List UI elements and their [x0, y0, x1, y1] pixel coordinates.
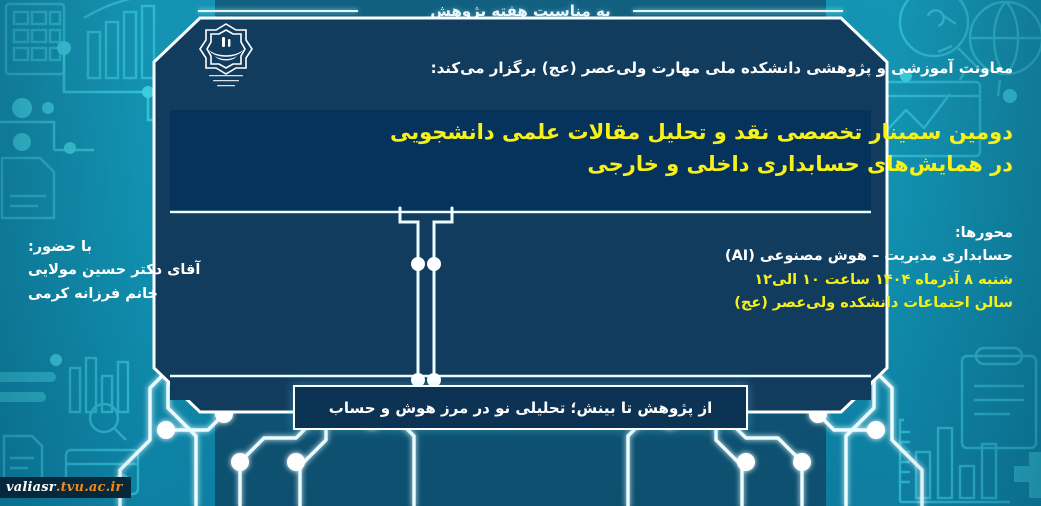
site-watermark: valiasr.tvu.ac.ir [0, 477, 131, 498]
slogan-text: از پژوهش تا بینش؛ تحلیلی نو در مرز هوش و… [329, 399, 712, 417]
organizer-text: معاونت آموزشی و پژوهشی دانشکده ملی مهارت… [250, 48, 1013, 88]
speakers-block: با حضور: آقای دکتر حسین مولایی خانم فرزا… [28, 236, 258, 306]
topics-label: محورها: [683, 222, 1013, 245]
topics-block: محورها: حسابداری مدیریت – هوش مصنوعی (AI… [683, 222, 1013, 316]
event-datetime: شنبه ۸ آذرماه ۱۴۰۴ ساعت ۱۰ الی۱۲ [683, 269, 1013, 292]
event-poster: % [0, 0, 1041, 506]
watermark-domain: .tvu.ac.ir [56, 480, 123, 495]
watermark-name: valiasr [6, 480, 56, 495]
seminar-title-line-2: در همایش‌های حسابداری داخلی و خارجی [587, 151, 1013, 177]
topic-item-1: حسابداری مدیریت – هوش مصنوعی (AI) [683, 245, 1013, 268]
slogan-banner: از پژوهش تا بینش؛ تحلیلی نو در مرز هوش و… [293, 385, 748, 430]
event-venue: سالن اجتماعات دانشکده ولی‌عصر (عج) [683, 292, 1013, 315]
center-circuit-trace [396, 206, 456, 388]
seminar-title: دومین سمینار تخصصی نقد و تحلیل مقالات عل… [190, 104, 1013, 192]
university-logo [195, 20, 257, 92]
seminar-title-line-1: دومین سمینار تخصصی نقد و تحلیل مقالات عل… [390, 119, 1013, 145]
speaker-name-1: آقای دکتر حسین مولایی [28, 259, 258, 282]
speakers-label: با حضور: [28, 236, 258, 259]
organizer-label: معاونت آموزشی و پژوهشی دانشکده ملی مهارت… [431, 59, 1013, 77]
speaker-name-2: خانم فرزانه کرمی [28, 283, 258, 306]
